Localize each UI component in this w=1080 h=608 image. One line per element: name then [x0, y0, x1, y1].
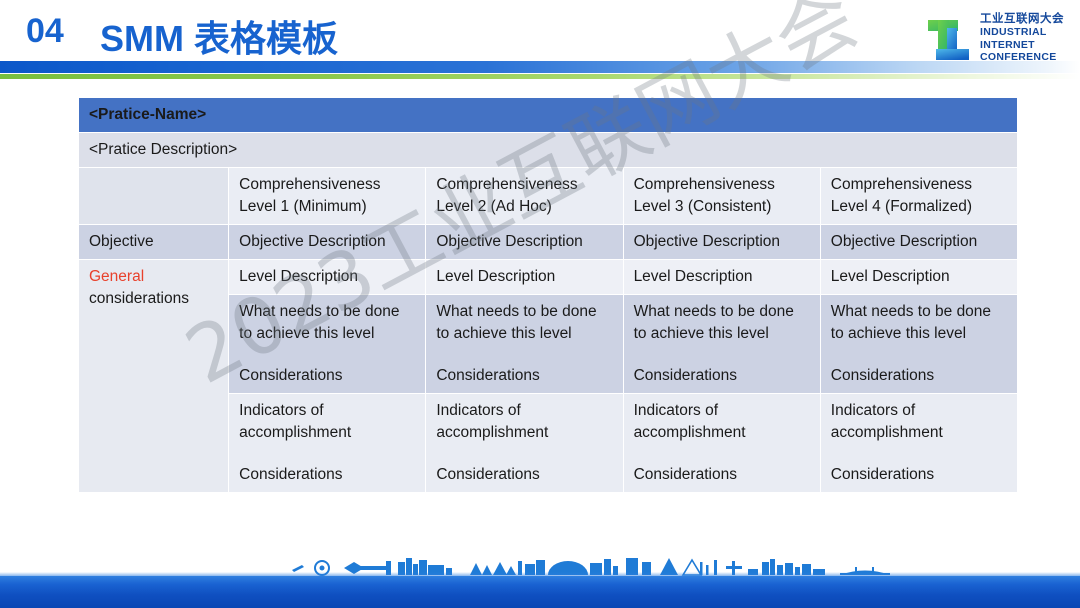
- indicators-cell-3: Indicators of accomplishment Considerati…: [623, 394, 820, 493]
- industrial-internet-logo-icon: [926, 16, 974, 66]
- header-comprehensiveness-4: Comprehensiveness: [831, 174, 1008, 196]
- row-label-considerations: considerations: [89, 288, 219, 310]
- what-needs-cell-1: What needs to be done to achieve this le…: [229, 295, 426, 394]
- cell-spacer: [436, 345, 613, 365]
- considerations2-text-1: Considerations: [239, 464, 416, 486]
- header-level-label-1: Level 1 (Minimum): [239, 196, 416, 218]
- cell-spacer: [634, 444, 811, 464]
- header-comprehensiveness-2: Comprehensiveness: [436, 174, 613, 196]
- level-description-cell-2: Level Description: [426, 260, 623, 295]
- slide-header: 04 SMM 表格模板: [0, 0, 1080, 60]
- conference-logo: 工业互联网大会 INDUSTRIAL INTERNET CONFERENCE: [926, 10, 1066, 72]
- header-level-1: Comprehensiveness Level 1 (Minimum): [229, 168, 426, 225]
- header-level-2: Comprehensiveness Level 2 (Ad Hoc): [426, 168, 623, 225]
- logo-text-en-3: CONFERENCE: [980, 51, 1066, 64]
- what-needs-text-3: What needs to be done to achieve this le…: [634, 301, 811, 345]
- cell-spacer: [831, 345, 1008, 365]
- smm-template-table: <Pratice-Name> <Pratice Description> Com…: [78, 97, 1018, 493]
- header-level-4: Comprehensiveness Level 4 (Formalized): [820, 168, 1017, 225]
- indicators-text-2: Indicators of accomplishment: [436, 400, 613, 444]
- objective-cell-3: Objective Description: [623, 225, 820, 260]
- header-level-label-3: Level 3 (Consistent): [634, 196, 811, 218]
- slide-footer-decoration: [0, 556, 1080, 608]
- header-comprehensiveness-1: Comprehensiveness: [239, 174, 416, 196]
- level-description-cell-4: Level Description: [820, 260, 1017, 295]
- what-needs-cell-2: What needs to be done to achieve this le…: [426, 295, 623, 394]
- logo-text-en-2: INTERNET: [980, 39, 1066, 52]
- header-rule-blue: [0, 61, 1080, 73]
- cell-spacer: [239, 444, 416, 464]
- level-description-cell-3: Level Description: [623, 260, 820, 295]
- table-row-column-headers: Comprehensiveness Level 1 (Minimum) Comp…: [79, 168, 1018, 225]
- cell-spacer: [239, 345, 416, 365]
- row-label-general: General: [89, 266, 219, 288]
- considerations-text-2: Considerations: [436, 365, 613, 387]
- indicators-text-1: Indicators of accomplishment: [239, 400, 416, 444]
- footer-band: [0, 576, 1080, 608]
- what-needs-text-2: What needs to be done to achieve this le…: [436, 301, 613, 345]
- indicators-cell-2: Indicators of accomplishment Considerati…: [426, 394, 623, 493]
- slide-section-number: 04: [26, 12, 64, 51]
- table-row-level-description: General considerations Level Description…: [79, 260, 1018, 295]
- objective-cell-4: Objective Description: [820, 225, 1017, 260]
- objective-cell-2: Objective Description: [426, 225, 623, 260]
- cell-spacer: [634, 345, 811, 365]
- table-row-practice-description: <Pratice Description>: [79, 133, 1018, 168]
- practice-description-cell: <Pratice Description>: [79, 133, 1018, 168]
- indicators-text-3: Indicators of accomplishment: [634, 400, 811, 444]
- considerations-text-1: Considerations: [239, 365, 416, 387]
- header-level-3: Comprehensiveness Level 3 (Consistent): [623, 168, 820, 225]
- header-level-label-4: Level 4 (Formalized): [831, 196, 1008, 218]
- indicators-cell-1: Indicators of accomplishment Considerati…: [229, 394, 426, 493]
- header-blank-cell: [79, 168, 229, 225]
- header-comprehensiveness-3: Comprehensiveness: [634, 174, 811, 196]
- considerations-text-3: Considerations: [634, 365, 811, 387]
- cell-spacer: [436, 444, 613, 464]
- considerations2-text-2: Considerations: [436, 464, 613, 486]
- indicators-text-4: Indicators of accomplishment: [831, 400, 1008, 444]
- considerations2-text-3: Considerations: [634, 464, 811, 486]
- what-needs-cell-4: What needs to be done to achieve this le…: [820, 295, 1017, 394]
- practice-name-cell: <Pratice-Name>: [79, 98, 1018, 133]
- what-needs-cell-3: What needs to be done to achieve this le…: [623, 295, 820, 394]
- logo-text-block: 工业互联网大会 INDUSTRIAL INTERNET CONFERENCE: [980, 13, 1066, 64]
- considerations-text-4: Considerations: [831, 365, 1008, 387]
- logo-text-cn: 工业互联网大会: [980, 13, 1066, 26]
- table-row-practice-name: <Pratice-Name>: [79, 98, 1018, 133]
- considerations2-text-4: Considerations: [831, 464, 1008, 486]
- header-rule-green: [0, 74, 1080, 79]
- what-needs-text-4: What needs to be done to achieve this le…: [831, 301, 1008, 345]
- logo-text-en-1: INDUSTRIAL: [980, 26, 1066, 39]
- page-title: SMM 表格模板: [100, 10, 338, 62]
- objective-cell-1: Objective Description: [229, 225, 426, 260]
- row-label-general-considerations: General considerations: [79, 260, 229, 493]
- row-label-objective: Objective: [79, 225, 229, 260]
- what-needs-text-1: What needs to be done to achieve this le…: [239, 301, 416, 345]
- header-level-label-2: Level 2 (Ad Hoc): [436, 196, 613, 218]
- level-description-cell-1: Level Description: [229, 260, 426, 295]
- indicators-cell-4: Indicators of accomplishment Considerati…: [820, 394, 1017, 493]
- cell-spacer: [831, 444, 1008, 464]
- table-row-objective: Objective Objective Description Objectiv…: [79, 225, 1018, 260]
